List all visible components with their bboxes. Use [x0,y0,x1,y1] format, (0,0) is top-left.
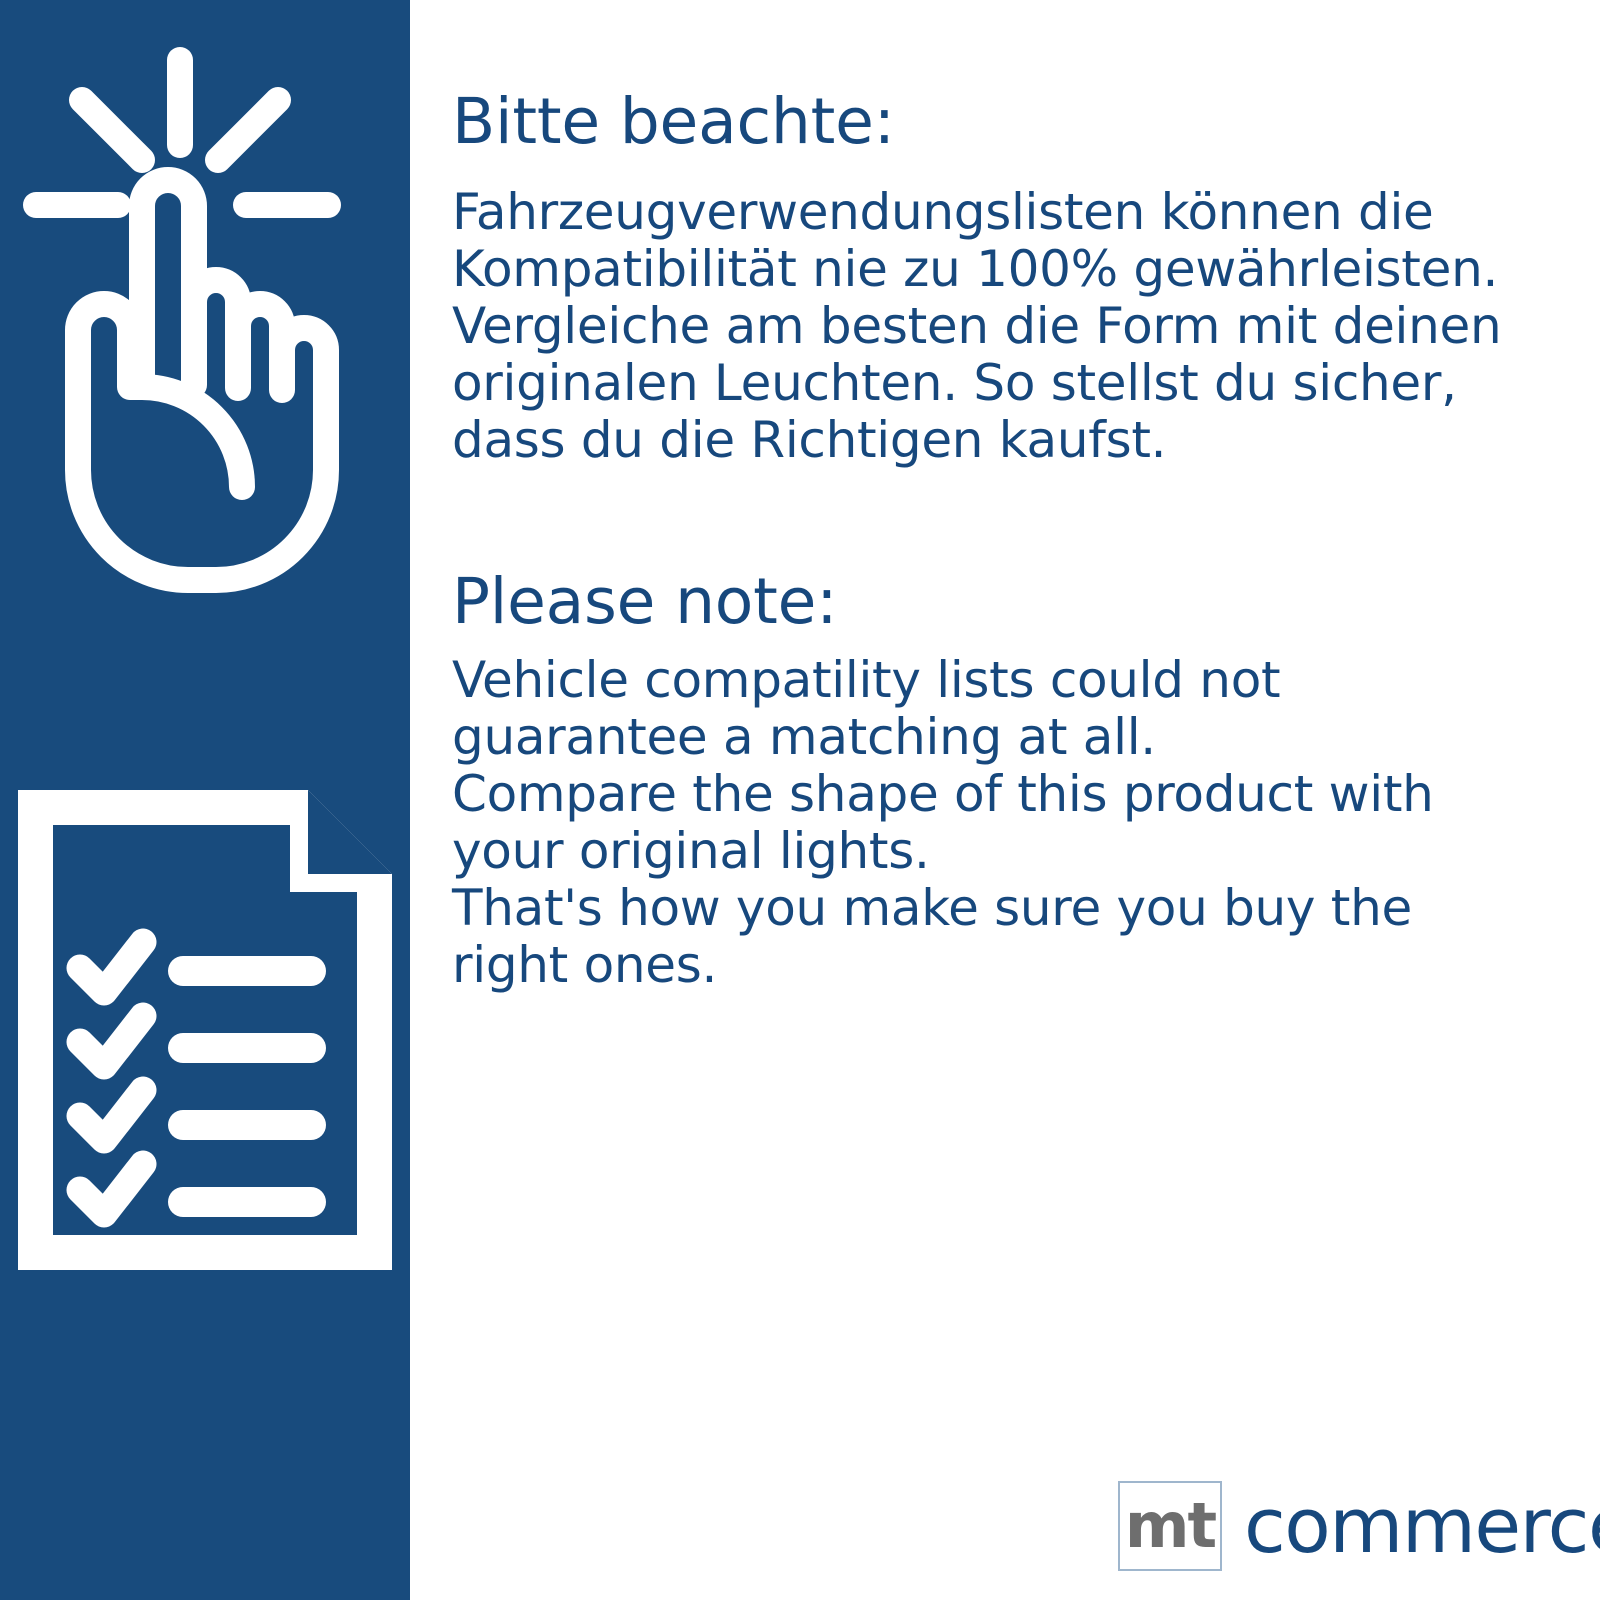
german-heading: Bitte beachte: [452,90,895,153]
logo-wordmark: commerce [1244,1488,1600,1564]
mt-commerce-logo: mt commerce [1118,1478,1600,1574]
german-body-line: originalen Leuchten. So stellst du siche… [452,355,1512,412]
english-body-line: Compare the shape of this product with [452,766,1512,823]
logo-mark-text: mt [1125,1495,1215,1557]
content-column: Bitte beachte: Fahrzeugverwendungslisten… [452,0,1512,1600]
english-body-line: your original lights. [452,823,1512,880]
english-body-line: right ones. [452,937,1512,994]
logo-mark-box: mt [1118,1481,1222,1571]
pointing-hand-click-icon [10,40,400,600]
english-heading: Please note: [452,570,837,633]
info-banner: Bitte beachte: Fahrzeugverwendungslisten… [0,0,1600,1600]
german-body: Fahrzeugverwendungslisten können die Kom… [452,184,1512,469]
english-body: Vehicle compatility lists could not guar… [452,652,1512,994]
checklist-document-icon [8,780,402,1280]
german-body-line: Kompatibilität nie zu 100% gewährleisten… [452,241,1512,298]
german-body-line: Vergleiche am besten die Form mit deinen [452,298,1512,355]
german-body-line: dass du die Richtigen kaufst. [452,412,1512,469]
english-body-line: guarantee a matching at all. [452,709,1512,766]
english-body-line: That's how you make sure you buy the [452,880,1512,937]
english-body-line: Vehicle compatility lists could not [452,652,1512,709]
sidebar [0,0,410,1600]
german-body-line: Fahrzeugverwendungslisten können die [452,184,1512,241]
